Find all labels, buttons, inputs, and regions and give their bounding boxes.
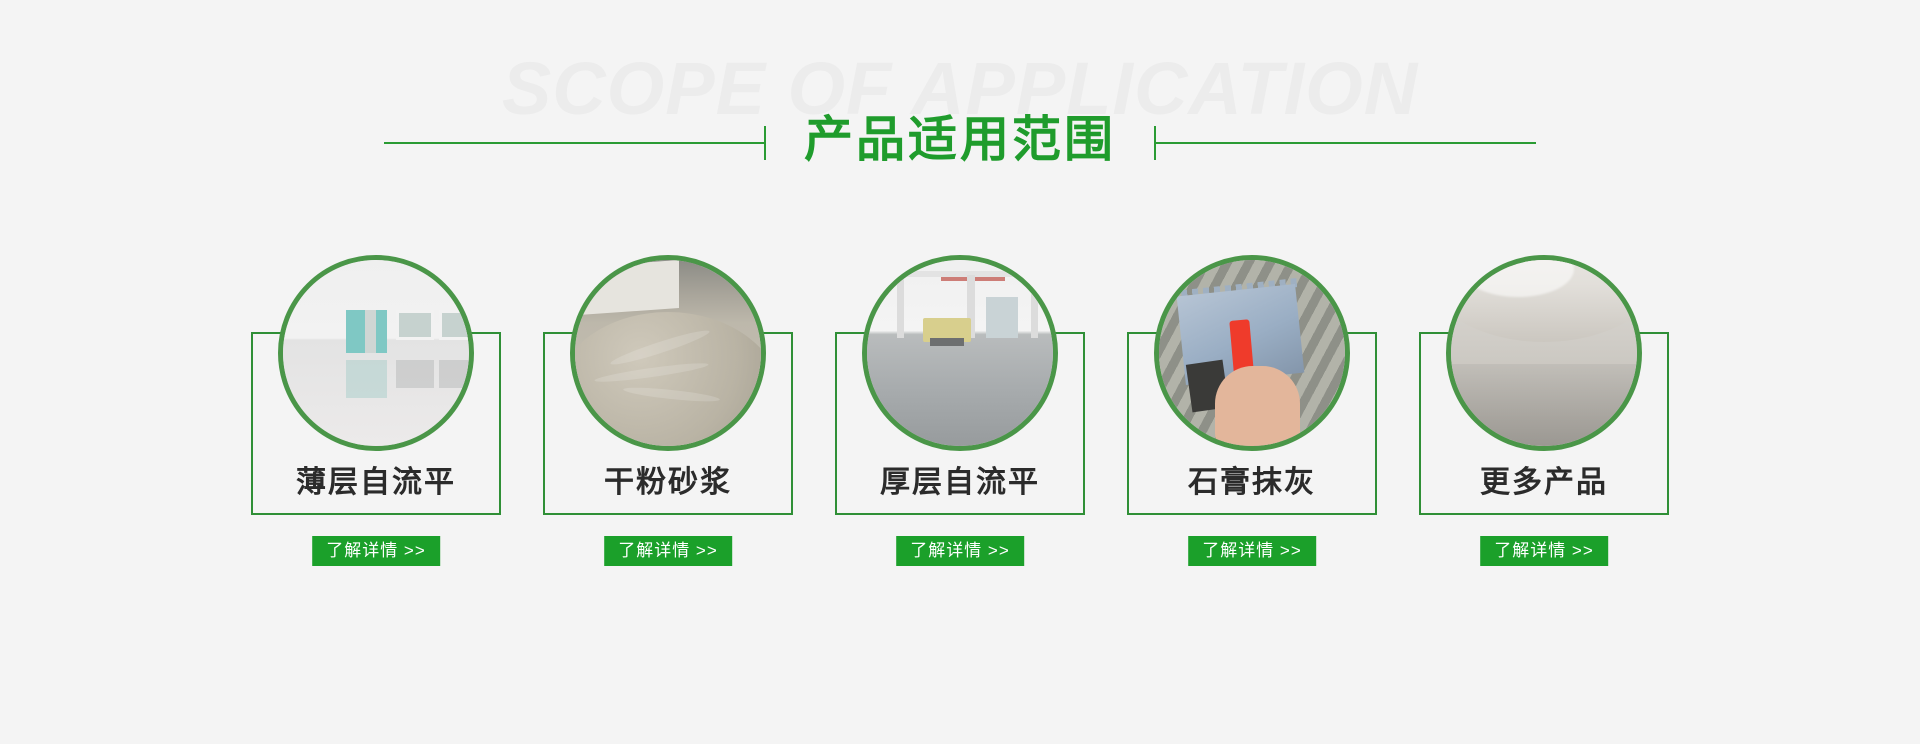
card-image-more-products[interactable]	[1446, 255, 1642, 451]
card-label: 厚层自流平	[835, 468, 1085, 498]
application-card[interactable]: 厚层自流平 了解详情 >>	[835, 255, 1085, 515]
page-title: 产品适用范围	[766, 116, 1154, 165]
title-rule-right	[1156, 142, 1536, 144]
card-image-thin-layer-self-leveling-floor[interactable]	[278, 255, 474, 451]
card-label: 更多产品	[1419, 468, 1669, 498]
application-cards: 薄层自流平 了解详情 >> 干粉砂浆 了解详情 >>	[0, 255, 1920, 515]
card-image-thick-layer-self-leveling-floor[interactable]	[862, 255, 1058, 451]
learn-more-button[interactable]: 了解详情 >>	[896, 536, 1024, 566]
learn-more-button[interactable]: 了解详情 >>	[312, 536, 440, 566]
application-card[interactable]: 石膏抹灰 了解详情 >>	[1127, 255, 1377, 515]
learn-more-button[interactable]: 了解详情 >>	[604, 536, 732, 566]
application-card[interactable]: 薄层自流平 了解详情 >>	[251, 255, 501, 515]
title-rule-left	[384, 142, 764, 144]
section-header: SCOPE OF APPLICATION 产品适用范围	[0, 0, 1920, 200]
learn-more-button[interactable]: 了解详情 >>	[1480, 536, 1608, 566]
title-row: 产品适用范围	[0, 118, 1920, 167]
card-label: 薄层自流平	[251, 468, 501, 498]
card-image-dry-powder-mortar[interactable]	[570, 255, 766, 451]
application-card[interactable]: 干粉砂浆 了解详情 >>	[543, 255, 793, 515]
card-label: 石膏抹灰	[1127, 468, 1377, 498]
scope-of-application-section: SCOPE OF APPLICATION 产品适用范围 薄层自流平 了解详情	[0, 0, 1920, 744]
application-card[interactable]: 更多产品 了解详情 >>	[1419, 255, 1669, 515]
card-image-gypsum-plastering-trowel[interactable]	[1154, 255, 1350, 451]
learn-more-button[interactable]: 了解详情 >>	[1188, 536, 1316, 566]
card-label: 干粉砂浆	[543, 468, 793, 498]
